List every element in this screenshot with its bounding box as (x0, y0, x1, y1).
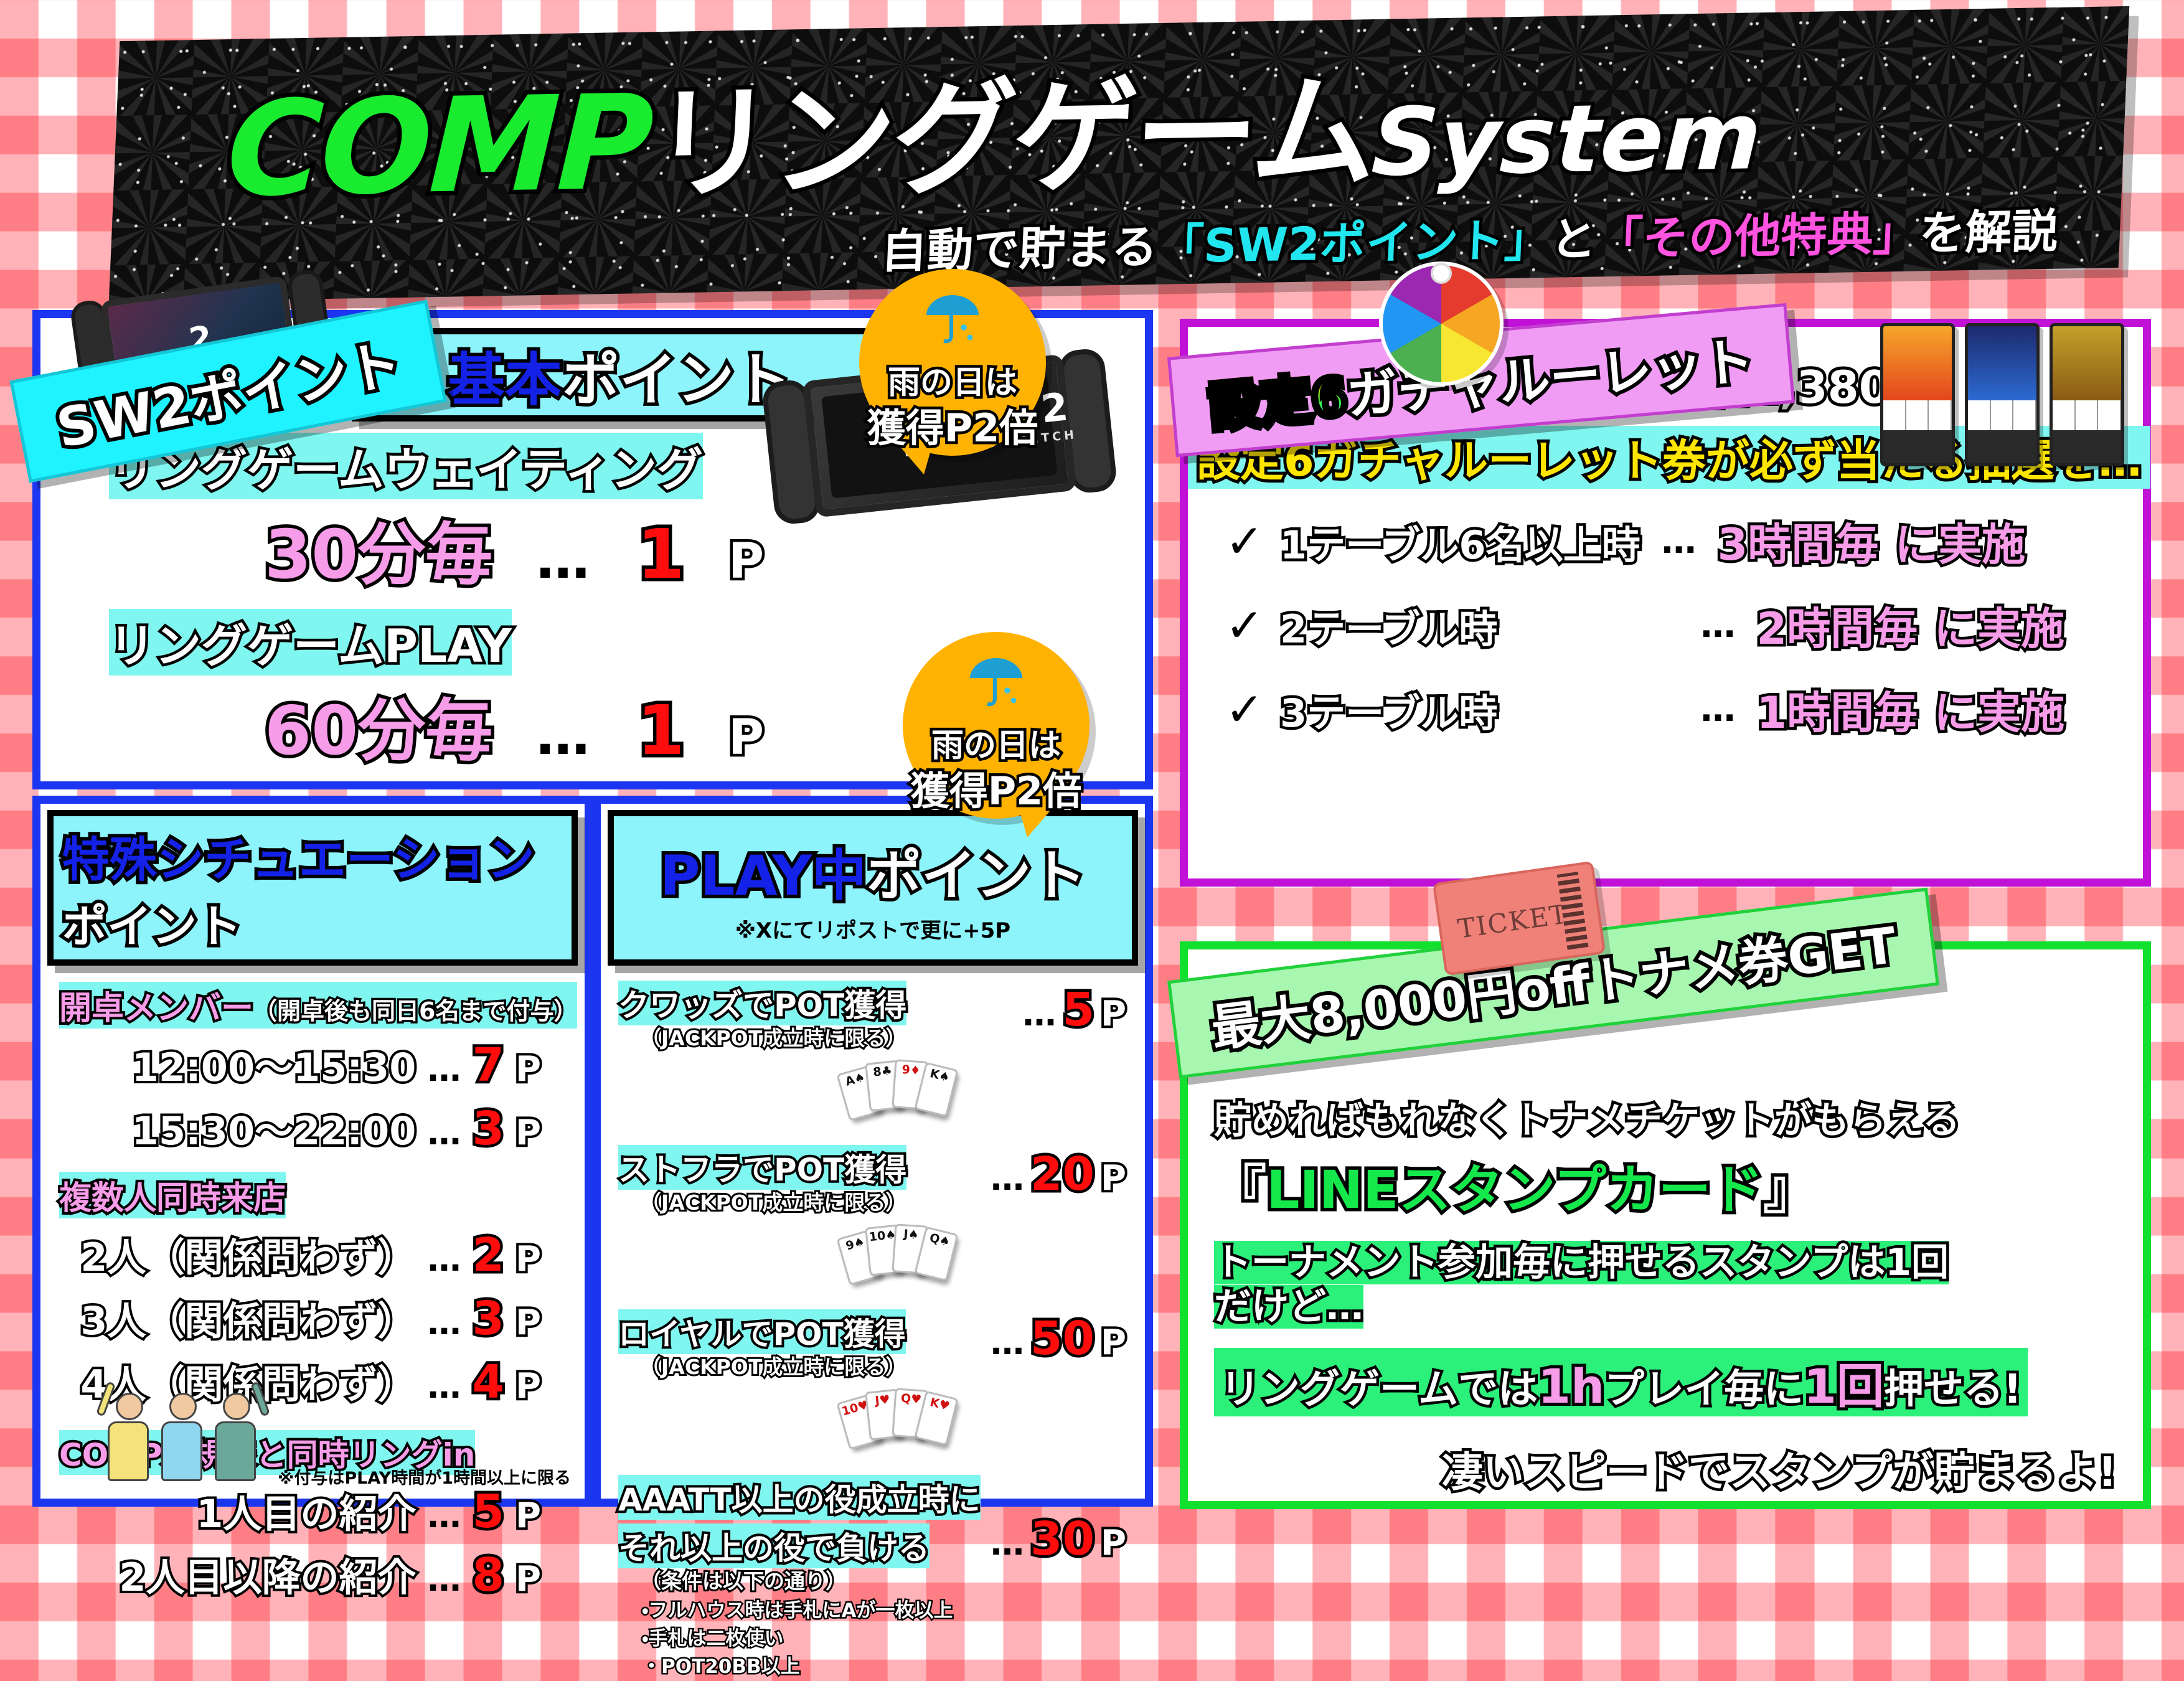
gacha-row-2: ✓ 3テーブル時 … 1時間毎 に実施 (1225, 678, 2143, 741)
play-item-2-points: … 50 P (991, 1312, 1126, 1365)
special-situation-panel: 特殊シチュエーション ポイント ※付与はPLAY時間が1時間以上に限る 開卓メン… (32, 796, 593, 1507)
header-banner: COMP リングゲーム System 自動で貯まる「SW2ポイント」と「その他特… (109, 6, 2129, 303)
special-item-1-0: 2人（関係問わず） … 2 P (59, 1226, 566, 1282)
rain-bonus-bubble-1: 雨の日は 獲得P2倍 (859, 269, 1046, 456)
play-condition-0: ・フルハウス時は手札にAが一枚以上 (642, 1597, 1145, 1625)
play-item-2-title: ロイヤルでPOT獲得 (618, 1309, 906, 1354)
special-heading-white: ポイント (62, 890, 242, 955)
play-points-panel: PLAY中ポイント ※Xにてリポストで更に+5P クワッズでPOT獲得 （JAC… (593, 796, 1153, 1507)
line-body-5: 凄いスピードでスタンプが貯まるよ! (1214, 1439, 2117, 1499)
line-body-4: リングゲームでは1hプレイ毎に1回押せる! (1214, 1348, 2028, 1416)
rain-bonus-bubble-2: 雨の日は 獲得P2倍 (903, 632, 1090, 819)
ticket-label: TICKET (1456, 898, 1570, 944)
line-body-3b: だけど… (1214, 1285, 1363, 1329)
bubble-2-line1: 雨の日は (903, 719, 1090, 766)
slot-machines-photo (1880, 323, 2124, 466)
play-condition-2: ・POT20BB以上 (642, 1653, 1145, 1681)
special-group-0-title: 開卓メンバー（開卓後も同日6名まで付与） (59, 982, 577, 1029)
basic-label-1: リングゲームPLAY (109, 609, 512, 676)
basic-unit-1: P (728, 710, 764, 766)
special-item-0-1: 15:30〜22:00 … 3 P (59, 1099, 566, 1156)
special-item-2-1: 2人目以降の紹介 … 8 P (59, 1546, 566, 1602)
special-note: ※付与はPLAY時間が1時間以上に限る (278, 1464, 571, 1489)
umbrella-icon (966, 653, 1026, 710)
line-body-1: 貯めればもれなくトナメチケットがもらえる (1214, 1090, 2117, 1144)
check-icon: ✓ (1225, 683, 1264, 737)
play-item-3-note: （条件は以下の通り） (641, 1565, 1127, 1594)
subtitle-and: と (1550, 213, 1598, 267)
title-system: System (1370, 82, 1764, 197)
special-group-0: 開卓メンバー（開卓後も同日6名まで付与） 12:00〜15:30 … 7 P 1… (40, 982, 585, 1156)
play-item-3-title2: それ以上の役で負ける (618, 1523, 930, 1568)
basic-dots-1: … (536, 705, 593, 767)
play-item-3: AAATT以上の役成立時に それ以上の役で負ける （条件は以下の通り） … 30… (601, 1475, 1145, 1594)
play-heading: PLAY中ポイント (660, 832, 1086, 911)
subtitle-other: 「その他特典」 (1596, 207, 1921, 266)
play-item-0-title: クワッズでPOT獲得 (618, 981, 906, 1025)
play-item-2: ロイヤルでPOT獲得 （JACKPOT成立時に限る） … 50 P 10♥ J♥… (601, 1309, 1145, 1459)
play-item-3-points: … 30 P (991, 1512, 1126, 1566)
poster-root: COMP リングゲーム System 自動で貯まる「SW2ポイント」と「その他特… (0, 0, 2184, 1544)
bubble-1-line2: 獲得P2倍 (859, 397, 1046, 453)
gacha-badge-set6: 設定6 (1206, 355, 1350, 441)
gacha-row-1: ✓ 2テーブル時 … 2時間毎 に実施 (1225, 594, 2143, 657)
title-ring-game: リングゲーム (647, 31, 1377, 224)
celebrating-people-icon (108, 1363, 276, 1481)
roulette-wheel-icon (1379, 261, 1504, 386)
poker-cards-icon: 9♠ 10♠ J♠ Q♠ (842, 1220, 967, 1294)
play-condition-1: ・手札は二枚使い (642, 1625, 1145, 1653)
line-body-3: トーナメント参加毎に押せるスタンプは1回 だけど… (1214, 1241, 2117, 1329)
basic-unit-0: P (728, 534, 764, 590)
umbrella-icon (923, 290, 982, 347)
ticket-barcode (1557, 872, 1589, 950)
play-item-1-points: … 20 P (991, 1147, 1126, 1201)
basic-heading-blue: 基本 (448, 347, 562, 413)
basic-heading-white: ポイント (562, 347, 791, 413)
bubble-1-line1: 雨の日は (859, 356, 1046, 403)
subtitle-part1: 自動で貯まる (880, 220, 1159, 279)
special-item-2-0: 1人目の紹介 … 5 P (59, 1482, 566, 1538)
line-body-2: 『LINEスタンプカード』 (1214, 1148, 2117, 1223)
basic-value-1: 60分毎 (265, 677, 492, 774)
gacha-row-0: ✓ 1テーブル6名以上時 … 3時間毎 に実施 (1225, 510, 2143, 573)
play-item-1-title: ストフラでPOT獲得 (618, 1145, 906, 1190)
poker-cards-icon: 10♥ J♥ Q♥ K♥ (842, 1384, 967, 1459)
line-body-3a: トーナメント参加毎に押せるスタンプは1回 (1214, 1241, 1949, 1284)
play-item-3-title: AAATT以上の役成立時に (618, 1475, 981, 1520)
play-conditions-list: ・フルハウス時は手札にAが一枚以上 ・手札は二枚使い ・POT20BB以上 (601, 1597, 1145, 1681)
play-item-1: ストフラでPOT獲得 （JACKPOT成立時に限る） … 20 P 9♠ 10♠… (601, 1145, 1145, 1294)
check-icon: ✓ (1225, 599, 1264, 652)
special-item-0-0: 12:00〜15:30 … 7 P (59, 1036, 566, 1092)
title-comp: COMP (224, 66, 654, 226)
basic-value-0: 30分毎 (265, 501, 492, 598)
bubble-2-line2: 獲得P2倍 (903, 760, 1090, 816)
subtitle-part2: を解説 (1918, 205, 2059, 261)
basic-points-1: 1 (637, 690, 685, 770)
special-item-1-1: 3人（関係問わず） … 3 P (59, 1289, 566, 1345)
special-points-header: 特殊シチュエーション ポイント ※付与はPLAY時間が1時間以上に限る (47, 810, 578, 966)
play-item-0-points: … 5 P (1022, 983, 1126, 1037)
special-group-1-title: 複数人同時来店 (59, 1172, 286, 1218)
basic-points-0: 1 (637, 514, 685, 594)
check-icon: ✓ (1225, 515, 1264, 568)
play-note: ※Xにてリポストで更に+5P (735, 913, 1010, 944)
subtitle-sw2: 「SW2ポイント」 (1157, 214, 1552, 274)
special-heading-blue: 特殊シチュエーション (62, 821, 534, 890)
play-item-0: クワッズでPOT獲得 （JACKPOT成立時に限る） … 5 P A♠ 8♣ 9… (601, 981, 1145, 1130)
poker-cards-icon: A♠ 8♣ 9♦ K♠ (842, 1055, 967, 1130)
basic-dots-0: … (536, 529, 593, 591)
